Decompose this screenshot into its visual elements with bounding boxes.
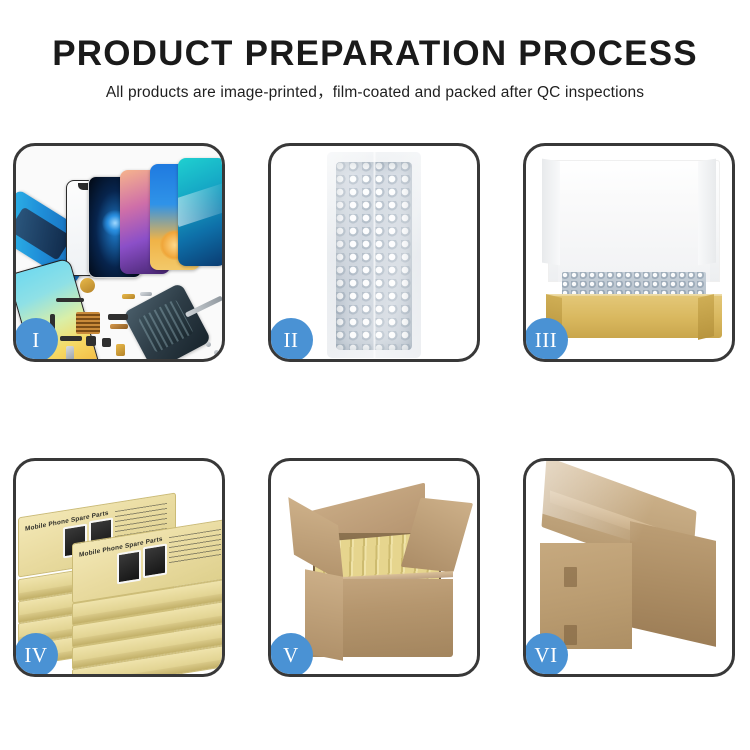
step-badge-5: V [269,633,313,677]
sim-tray-icon [66,346,74,359]
process-step-2: II [268,143,480,362]
inner-box-lid-icon [548,160,720,282]
carton-seam-mark [564,625,577,645]
process-step-grid: I II III [13,143,737,677]
process-step-1: I [13,143,225,362]
step-badge-2: II [269,318,313,362]
flex-cable-part-icon [56,298,84,302]
process-step-4: Mobile Phone Spare Parts Mobile Phone Sp… [13,458,225,677]
gold-chip-icon [116,344,125,356]
page-subtitle: All products are image-printed，film-coat… [0,82,750,104]
pouch-sheen [327,152,421,358]
sealed-carton-front [540,543,632,649]
process-step-3: III [523,143,735,362]
teal-streak-phone-icon [178,158,222,266]
copper-flex-part-icon [110,324,128,329]
opened-logic-board-phone-icon [122,282,211,359]
camera-module-icon [86,336,96,346]
inner-box-lid-flap-left [542,159,560,266]
inner-box-lid-flap-right [698,159,716,266]
inner-box-body-icon [546,296,722,338]
speaker-part-icon [80,278,95,293]
process-step-6: VI [523,458,735,677]
antenna-part-icon [60,336,82,341]
metal-bracket-part-icon [140,292,152,296]
screw-icon [206,342,211,347]
carton-seam-mark [564,567,577,587]
page-header: PRODUCT PREPARATION PROCESS All products… [0,0,750,104]
inner-box-end-right [698,294,714,340]
step-badge-3: III [524,318,568,362]
gold-connector-part-icon [122,294,135,299]
vibration-motor-icon [102,338,111,347]
screw-icon [214,350,219,355]
box-screen-graphic [117,550,141,585]
step-badge-1: I [14,318,58,362]
chip-array-icon [76,312,100,334]
step-badge-4: IV [14,633,58,677]
step-badge-6: VI [524,633,568,677]
box-spec-lines [169,529,221,565]
ribbon-cable-part-icon [108,314,128,320]
process-step-5: V [268,458,480,677]
box-screen-graphic [143,543,167,578]
page-title: PRODUCT PREPARATION PROCESS [0,34,750,74]
bubble-wrap-pouch-icon [327,152,421,358]
